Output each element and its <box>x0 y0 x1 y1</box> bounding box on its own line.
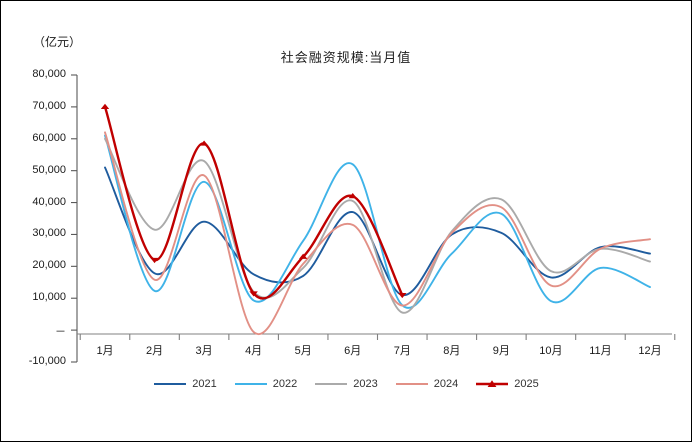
legend-item-2022[interactable]: 2022 <box>234 378 297 390</box>
legend-label: 2025 <box>514 378 538 390</box>
legend-item-2023[interactable]: 2023 <box>314 378 377 390</box>
x-axis-tick-label: 11月 <box>578 342 622 358</box>
y-axis-tick-label: 30,000 <box>8 227 66 239</box>
x-axis-tick-label: 1月 <box>83 342 127 358</box>
legend-swatch-2025 <box>475 378 509 390</box>
x-axis-tick-label: 5月 <box>281 342 325 358</box>
y-axis-ticks <box>71 75 77 362</box>
y-axis-tick-label: 60,000 <box>8 132 66 144</box>
x-axis-tick-label: 3月 <box>182 342 226 358</box>
x-axis-tick-label: 4月 <box>232 342 276 358</box>
legend-item-2021[interactable]: 2021 <box>153 378 216 390</box>
y-axis-tick-label: 70,000 <box>8 100 66 112</box>
x-axis-tick-label: 6月 <box>331 342 375 358</box>
y-axis-tick-label: 40,000 <box>8 196 66 208</box>
x-axis-tick-label: 12月 <box>628 342 672 358</box>
legend-swatch-2021 <box>153 378 187 390</box>
legend-item-2024[interactable]: 2024 <box>395 378 458 390</box>
y-axis-tick-label: 10,000 <box>8 291 66 303</box>
y-axis-tick-label: 80,000 <box>8 68 66 80</box>
y-axis-tick-label: － <box>8 323 66 339</box>
x-axis-tick-label: 10月 <box>529 342 573 358</box>
y-axis-tick-label: 20,000 <box>8 259 66 271</box>
chart-screenshot: （亿元） 社会融资规模:当月值 80,00070,00060,00050,000… <box>0 0 692 442</box>
legend-label: 2023 <box>353 378 377 390</box>
series-layer <box>101 104 650 334</box>
y-axis-tick-label: -10,000 <box>8 355 66 367</box>
legend-label: 2024 <box>434 378 458 390</box>
legend-swatch-2022 <box>234 378 268 390</box>
legend-label: 2021 <box>192 378 216 390</box>
legend-swatch-2024 <box>395 378 429 390</box>
data-point-marker <box>101 104 109 109</box>
x-axis-ticks <box>80 334 675 340</box>
series-line-2023 <box>105 139 650 313</box>
legend-swatch-2023 <box>314 378 348 390</box>
legend-label: 2022 <box>273 378 297 390</box>
x-axis-tick-label: 2月 <box>133 342 177 358</box>
y-axis-tick-label: 50,000 <box>8 164 66 176</box>
x-axis-tick-label: 9月 <box>479 342 523 358</box>
series-2022 <box>105 136 650 308</box>
chart-legend: 20212022202320242025 <box>0 378 692 390</box>
x-axis-tick-label: 7月 <box>380 342 424 358</box>
series-2023 <box>105 139 650 313</box>
x-axis-tick-label: 8月 <box>430 342 474 358</box>
series-line-2022 <box>105 136 650 308</box>
plot-area <box>0 0 692 442</box>
legend-item-2025[interactable]: 2025 <box>475 378 538 390</box>
